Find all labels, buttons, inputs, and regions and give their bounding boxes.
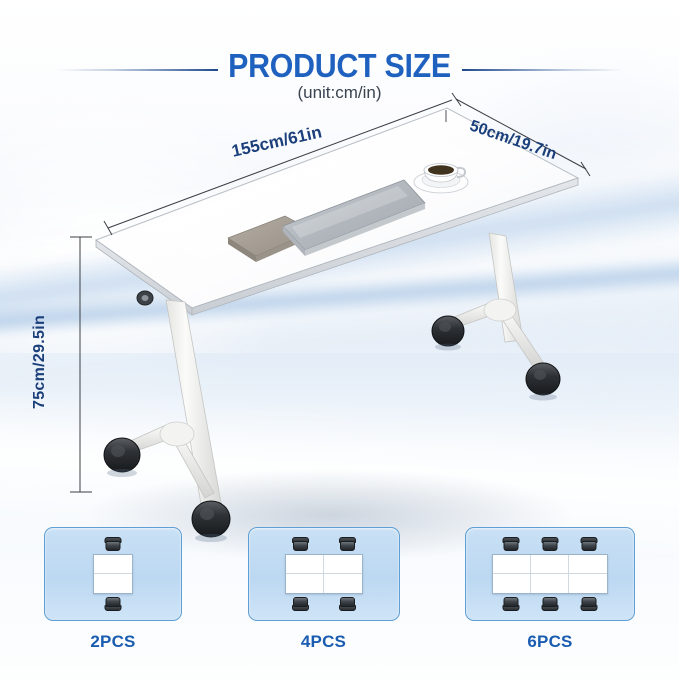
chair-row-bottom <box>105 597 122 611</box>
configuration-label: 4PCS <box>301 632 346 652</box>
chair-icon <box>105 597 122 611</box>
chair-seat-icon <box>340 597 355 607</box>
configuration-diagram <box>248 527 400 621</box>
configuration-label: 2PCS <box>90 632 135 652</box>
chair-seat-icon <box>106 597 121 607</box>
table-leg-right <box>432 233 560 401</box>
desk-cell <box>493 574 531 593</box>
chair-row-top <box>292 537 356 551</box>
chair-row-bottom <box>503 597 598 611</box>
chair-seat-icon <box>293 597 308 607</box>
chair-seat-icon <box>293 541 308 551</box>
chair-seat-icon <box>504 597 519 607</box>
desk-cell <box>94 555 132 574</box>
caster-wheel-left-front <box>104 438 140 477</box>
chair-icon <box>292 597 309 611</box>
configuration-label: 6PCS <box>527 632 572 652</box>
product-size-infographic: PRODUCT SIZE (unit:cm/in) <box>0 0 679 679</box>
configuration-diagram <box>465 527 635 621</box>
dimension-label-height: 75cm/29.5in <box>31 315 49 409</box>
desk-cell <box>324 555 362 574</box>
chair-seat-icon <box>543 597 558 607</box>
configuration-2pcs[interactable]: 2PCS <box>44 527 182 667</box>
chair-icon <box>503 537 520 551</box>
chair-seat-icon <box>504 541 519 551</box>
chair-icon <box>339 597 356 611</box>
chair-seat-icon <box>543 541 558 551</box>
chair-icon <box>503 597 520 611</box>
chair-icon <box>105 537 122 551</box>
chair-row-bottom <box>292 597 356 611</box>
configuration-4pcs[interactable]: 4PCS <box>248 527 400 667</box>
desk-cell <box>569 555 607 574</box>
chair-seat-icon <box>582 597 597 607</box>
chair-icon <box>339 537 356 551</box>
chair-row-top <box>105 537 122 551</box>
desk-grid <box>93 554 133 594</box>
desk-grid <box>285 554 363 594</box>
desk-cell <box>324 574 362 593</box>
caster-wheel-right-back <box>526 363 560 401</box>
desk-cell <box>493 555 531 574</box>
chair-icon <box>542 537 559 551</box>
chair-seat-icon <box>106 541 121 551</box>
configuration-diagram <box>44 527 182 621</box>
chair-icon <box>581 597 598 611</box>
chair-seat-icon <box>582 541 597 551</box>
chair-row-top <box>503 537 598 551</box>
chair-icon <box>581 537 598 551</box>
chair-icon <box>542 597 559 611</box>
desk-cell <box>286 555 324 574</box>
caster-wheel-right-front <box>432 316 464 351</box>
desk-cell <box>531 555 569 574</box>
desk-cell <box>286 574 324 593</box>
chair-icon <box>292 537 309 551</box>
desk-cell <box>94 574 132 593</box>
chair-seat-icon <box>340 541 355 551</box>
configuration-6pcs[interactable]: 6PCS <box>465 527 635 667</box>
desk-grid <box>492 554 608 594</box>
desk-cell <box>531 574 569 593</box>
configuration-panels: 2PCS4PCS6PCS <box>0 527 679 667</box>
desk-cell <box>569 574 607 593</box>
